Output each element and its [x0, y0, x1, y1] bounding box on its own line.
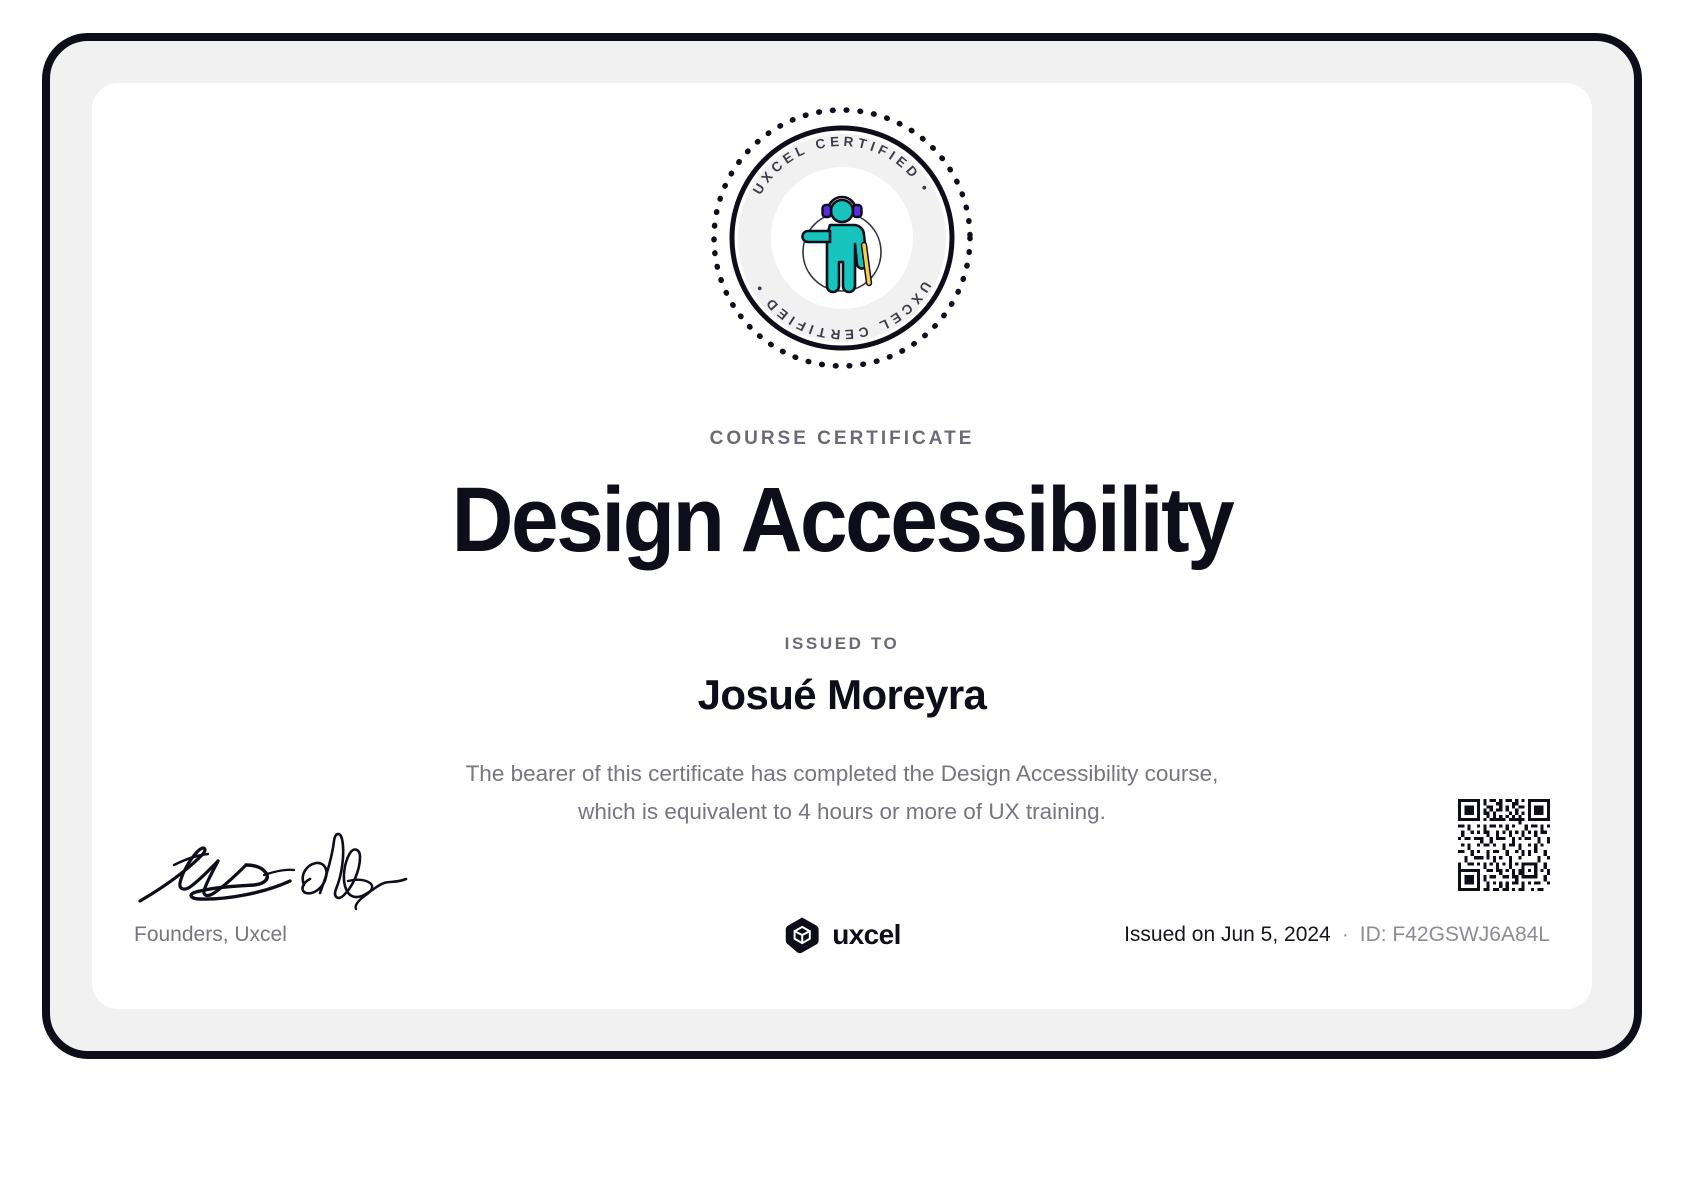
meta-separator: · [1342, 923, 1349, 947]
signature-block: Founders, Uxcel [134, 821, 474, 947]
seal-graphic: UXCEL CERTIFIED • UXCEL CERTIFIED • [709, 105, 975, 371]
description-line-1: The bearer of this certificate has compl… [372, 755, 1312, 793]
description-text: The bearer of this certificate has compl… [372, 755, 1312, 831]
signature-caption: Founders, Uxcel [134, 923, 474, 947]
recipient-name: Josué Moreyra [92, 671, 1592, 719]
certificate-id: ID: F42GSWJ6A84L [1360, 923, 1550, 947]
uxcel-logo: uxcel [783, 916, 901, 954]
page-title: Design Accessibility [145, 461, 1540, 579]
eyebrow-label: COURSE CERTIFICATE [92, 428, 1592, 450]
issued-to-label: ISSUED TO [92, 634, 1592, 654]
verification-qr-code[interactable] [1458, 799, 1550, 891]
certification-seal: UXCEL CERTIFIED • UXCEL CERTIFIED • [709, 105, 975, 371]
certificate-meta: Issued on Jun 5, 2024 · ID: F42GSWJ6A84L [1124, 923, 1550, 947]
founders-signature-image [134, 821, 424, 913]
uxcel-hexagon-cube-logo-icon [783, 916, 821, 954]
qr-code-graphic [1458, 799, 1550, 891]
description-line-2: which is equivalent to 4 hours or more o… [372, 793, 1312, 831]
certificate-frame: UXCEL CERTIFIED • UXCEL CERTIFIED • [42, 33, 1642, 1059]
uxcel-wordmark: uxcel [832, 919, 901, 951]
certificate-card: UXCEL CERTIFIED • UXCEL CERTIFIED • [92, 83, 1592, 1009]
issue-date: Issued on Jun 5, 2024 [1124, 923, 1331, 947]
